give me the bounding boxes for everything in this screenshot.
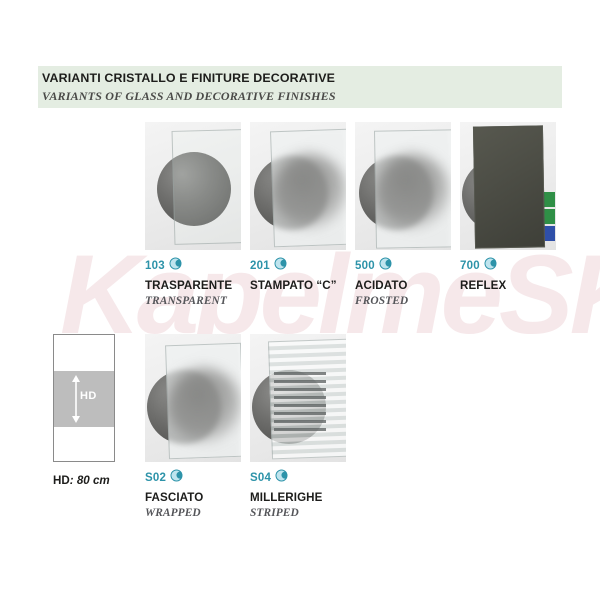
striped-sphere-distortion bbox=[274, 372, 326, 434]
hd-panel-outline: HD bbox=[53, 334, 115, 462]
finish-name-it: TRASPARENTE bbox=[145, 279, 241, 292]
finish-code: 103 bbox=[145, 260, 165, 272]
hd-band-label: HD bbox=[80, 390, 97, 402]
glass-finish-icon bbox=[275, 469, 288, 487]
glass-pane-clear bbox=[172, 129, 241, 245]
finish-card-500[interactable]: 500 ACIDATO FROSTED bbox=[355, 122, 451, 307]
finish-name-en: TRANSPARENT bbox=[145, 295, 241, 307]
finish-name-en: STRIPED bbox=[250, 507, 346, 519]
finish-code: 500 bbox=[355, 260, 375, 272]
finish-name-it: ACIDATO bbox=[355, 279, 451, 292]
finish-name-it: MILLERIGHE bbox=[250, 491, 346, 504]
finish-card-s02[interactable]: S02 FASCIATO WRAPPED bbox=[145, 334, 241, 519]
finish-swatch-stampato-c bbox=[250, 122, 346, 250]
finish-name-it: REFLEX bbox=[460, 279, 556, 292]
page-title: VARIANTI CRISTALLO E FINITURE DECORATIVE bbox=[42, 71, 335, 85]
glass-finish-icon bbox=[274, 257, 287, 275]
glass-pane-reflex bbox=[473, 125, 545, 248]
finish-name-it: STAMPATO “C” bbox=[250, 279, 346, 292]
finish-code-row: 201 bbox=[250, 258, 346, 273]
finish-card-103[interactable]: 103 TRASPARENTE TRANSPARENT bbox=[145, 122, 241, 307]
hd-caption-label: HD bbox=[53, 474, 70, 487]
finish-card-s04[interactable]: S04 MILLERIGHE STRIPED bbox=[250, 334, 346, 519]
finish-card-201[interactable]: 201 STAMPATO “C” bbox=[250, 122, 346, 295]
finish-name-en: WRAPPED bbox=[145, 507, 241, 519]
hd-caption-value: : 80 cm bbox=[70, 474, 110, 487]
glass-finish-icon bbox=[169, 257, 182, 275]
glass-finish-icon bbox=[379, 257, 392, 275]
finish-code: S02 bbox=[145, 472, 166, 484]
blurred-sphere-through-glass bbox=[167, 368, 241, 442]
finish-card-700[interactable]: 700 REFLEX bbox=[460, 122, 556, 295]
blurred-sphere-through-glass bbox=[375, 154, 449, 228]
glass-finish-icon bbox=[170, 469, 183, 487]
finish-swatch-transparent bbox=[145, 122, 241, 250]
finish-code: 201 bbox=[250, 260, 270, 272]
finish-name-it: FASCIATO bbox=[145, 491, 241, 504]
finish-swatch-millerighe bbox=[250, 334, 346, 462]
finish-code-row: S04 bbox=[250, 470, 346, 485]
finish-code: S04 bbox=[250, 472, 271, 484]
finish-code: 700 bbox=[460, 260, 480, 272]
hd-diagram: HD HD: 80 cm bbox=[53, 334, 115, 487]
finish-name-en: FROSTED bbox=[355, 295, 451, 307]
blurred-sphere-through-glass bbox=[272, 154, 346, 228]
finish-swatch-reflex bbox=[460, 122, 556, 250]
finish-swatch-acidato bbox=[355, 122, 451, 250]
page-subtitle: VARIANTS OF GLASS AND DECORATIVE FINISHE… bbox=[42, 89, 336, 104]
hd-caption: HD: 80 cm bbox=[53, 474, 115, 487]
finish-code-row: 700 bbox=[460, 258, 556, 273]
finish-code-row: 500 bbox=[355, 258, 451, 273]
finish-swatch-fasciato bbox=[145, 334, 241, 462]
finish-code-row: S02 bbox=[145, 470, 241, 485]
glass-finish-icon bbox=[484, 257, 497, 275]
finish-code-row: 103 bbox=[145, 258, 241, 273]
